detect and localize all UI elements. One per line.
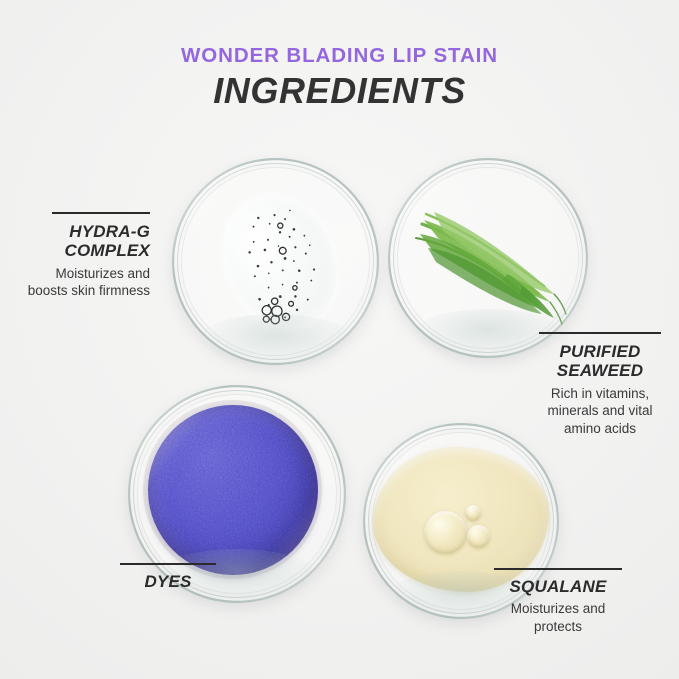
brand-title: WONDER BLADING LIP STAIN xyxy=(0,44,679,68)
page-title: INGREDIENTS xyxy=(0,70,679,112)
powder-grain-texture xyxy=(148,405,318,575)
seaweed-icon xyxy=(404,190,572,330)
oil-droplet-large xyxy=(424,511,467,554)
ingredient-name: SQUALANE xyxy=(488,577,628,596)
ingredients-infographic: WONDER BLADING LIP STAIN INGREDIENTS xyxy=(0,0,679,679)
ingredient-description: Moisturizes and protects xyxy=(488,600,628,635)
blue-dye-powder xyxy=(148,405,318,575)
callout-dyes: DYES xyxy=(108,563,228,591)
ingredient-description: Moisturizes and boosts skin firmness xyxy=(12,265,150,300)
callout-leader-line xyxy=(120,563,216,565)
ingredient-description: Rich in vitamins, minerals and vital ami… xyxy=(533,385,667,438)
ingredient-name: PURIFIED SEAWEED xyxy=(533,342,667,381)
ingredient-name: HYDRA-G COMPLEX xyxy=(12,222,150,261)
callout-squalane: SQUALANE Moisturizes and protects xyxy=(488,568,628,635)
callout-leader-line xyxy=(539,332,661,334)
callout-leader-line xyxy=(52,212,150,214)
callout-leader-line xyxy=(494,568,622,570)
oil-droplet-small xyxy=(465,505,481,521)
ingredient-name: DYES xyxy=(108,572,228,591)
callout-purified-seaweed: PURIFIED SEAWEED Rich in vitamins, miner… xyxy=(533,332,667,437)
petri-dish-seaweed xyxy=(388,158,588,358)
callout-hydra-g-complex: HYDRA-G COMPLEX Moisturizes and boosts s… xyxy=(12,212,150,300)
petri-dish-gel xyxy=(172,158,379,365)
